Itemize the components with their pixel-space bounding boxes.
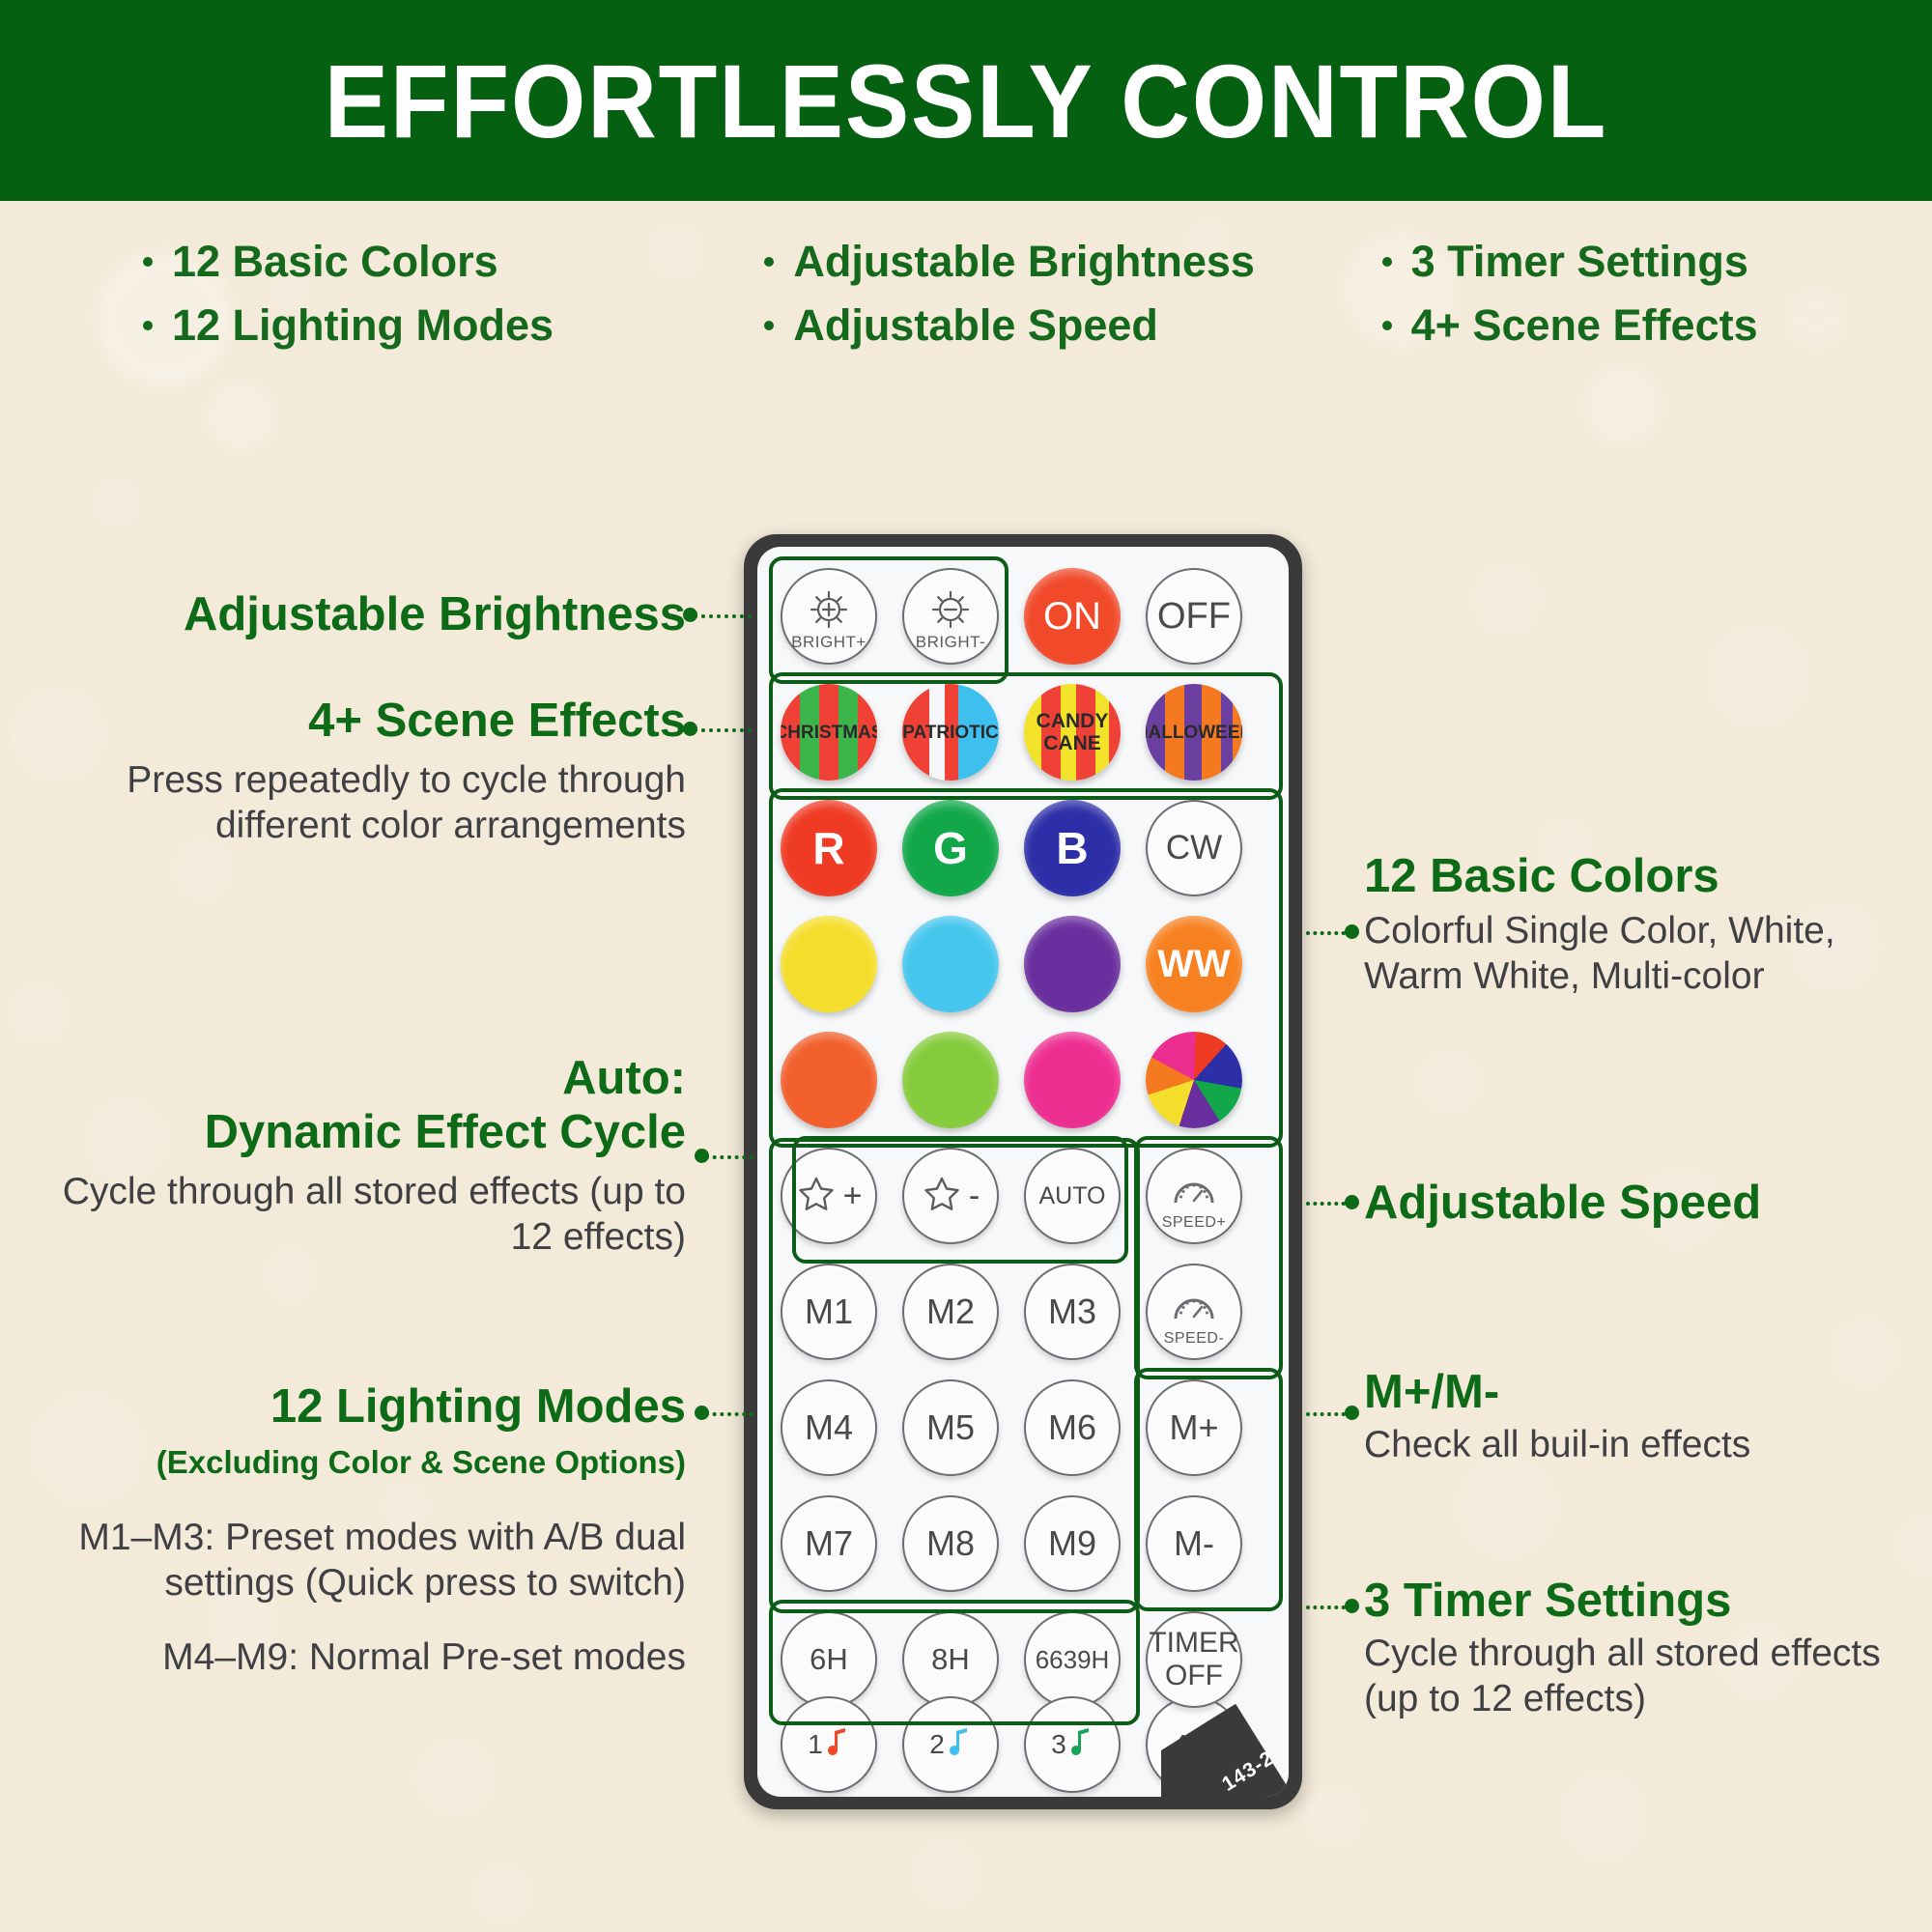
- callout-speed-title: Adjustable Speed: [1364, 1175, 1905, 1231]
- power-off-label: OFF: [1157, 596, 1231, 638]
- page-title: EFFORTLESSLY CONTROL: [325, 41, 1608, 161]
- scene-patriotic-label: PATRIOTIC: [902, 722, 999, 744]
- spacer: [877, 1264, 902, 1360]
- feature-bullets: 12 Basic Colors 12 Lighting Modes Adjust…: [0, 216, 1932, 371]
- row-colors-2: WW: [781, 916, 1242, 1012]
- spacer: [877, 1611, 902, 1708]
- feature-label: 12 Lighting Modes: [172, 294, 554, 357]
- timer-8h-button[interactable]: 8H: [902, 1611, 999, 1708]
- color-cyan-button[interactable]: [902, 916, 999, 1012]
- leader-line-auto: [705, 1155, 753, 1159]
- auto-label: AUTO: [1039, 1182, 1106, 1210]
- mode-m5-label: M5: [926, 1407, 975, 1448]
- spacer: [877, 800, 902, 896]
- bullet-dot-icon: [1382, 321, 1392, 330]
- mode-m3-label: M3: [1048, 1292, 1096, 1332]
- candy-line-1: CANDY: [1037, 710, 1109, 732]
- mode-m9-label: M9: [1048, 1523, 1096, 1564]
- music-2-label: 2: [929, 1729, 945, 1760]
- spacer: [999, 1495, 1024, 1592]
- leader-dot-modes: [695, 1406, 709, 1420]
- spacer: [999, 800, 1024, 896]
- callout-timers-title: 3 Timer Settings: [1364, 1573, 1924, 1629]
- feature-item: 4+ Scene Effects: [1382, 294, 1932, 357]
- callout-scene-effects: 4+ Scene Effects Press repeatedly to cyc…: [58, 694, 686, 848]
- star-plus-icon: +: [796, 1174, 863, 1218]
- mode-m7-label: M7: [805, 1523, 853, 1564]
- callout-scene-body: Press repeatedly to cycle through differ…: [58, 757, 686, 848]
- color-purple-button[interactable]: [1024, 916, 1121, 1012]
- scene-candy-cane-label: CANDY CANE: [1037, 710, 1109, 754]
- mode-m2-button[interactable]: M2: [902, 1264, 999, 1360]
- color-orange-button[interactable]: [781, 1032, 877, 1128]
- music-note-icon: [1068, 1725, 1094, 1765]
- timer-6h-label: 6H: [810, 1642, 848, 1677]
- header-banner: EFFORTLESSLY CONTROL: [0, 0, 1932, 201]
- music-note-group-3: 3: [1051, 1725, 1094, 1765]
- mode-plus-label: M+: [1169, 1407, 1218, 1448]
- callout-msteps: M+/M- Check all buil-in effects: [1364, 1364, 1905, 1467]
- callout-basic-colors: 12 Basic Colors Colorful Single Color, W…: [1364, 848, 1905, 999]
- spacer: [877, 916, 902, 1012]
- color-green-label: G: [933, 822, 968, 874]
- feature-column-1: 12 Basic Colors 12 Lighting Modes: [0, 216, 693, 371]
- timer-off-line2: OFF: [1165, 1660, 1223, 1692]
- feature-column-3: 3 Timer Settings 4+ Scene Effects: [1315, 216, 1932, 371]
- callout-modes-body-1: M1–M3: Preset modes with A/B dual settin…: [48, 1515, 686, 1605]
- star-minus-button[interactable]: -: [902, 1148, 999, 1244]
- callout-timers: 3 Timer Settings Cycle through all store…: [1364, 1573, 1924, 1721]
- callout-auto-body: Cycle through all stored effects (up to …: [58, 1169, 686, 1260]
- spacer: [999, 1696, 1024, 1793]
- mode-m3-button[interactable]: M3: [1024, 1264, 1121, 1360]
- speed-down-label: SPEED-: [1148, 1330, 1240, 1348]
- speed-up-label: SPEED+: [1148, 1214, 1240, 1232]
- leader-line-modes: [705, 1412, 753, 1416]
- feature-column-2: Adjustable Brightness Adjustable Speed: [693, 216, 1314, 371]
- mode-plus-button[interactable]: M+: [1146, 1379, 1242, 1476]
- bright-down-button[interactable]: BRIGHT-: [902, 568, 999, 665]
- color-yellow-button[interactable]: [781, 916, 877, 1012]
- model-corner-tag: 143-2: [1161, 1704, 1289, 1797]
- callout-speed: Adjustable Speed: [1364, 1175, 1905, 1231]
- candy-line-2: CANE: [1043, 732, 1101, 754]
- sun-plus-icon: [804, 586, 854, 637]
- scene-halloween-label: HALLOWEEN: [1146, 722, 1242, 744]
- callout-msteps-title: M+/M-: [1364, 1364, 1905, 1420]
- spacer: [999, 1611, 1024, 1708]
- feature-item: 12 Basic Colors: [143, 230, 693, 294]
- callout-auto-title-2: Dynamic Effect Cycle: [58, 1105, 686, 1159]
- row-colors-3: [781, 1032, 1242, 1128]
- music-1-label: 1: [808, 1729, 823, 1760]
- feature-label: Adjustable Speed: [793, 294, 1158, 357]
- multicolor-wheel-icon: [1146, 1032, 1242, 1128]
- callout-auto: Auto: Dynamic Effect Cycle Cycle through…: [58, 1051, 686, 1260]
- scene-patriotic-button[interactable]: PATRIOTIC: [902, 684, 999, 781]
- music-note-group-1: 1: [808, 1725, 850, 1765]
- mode-m4-label: M4: [805, 1407, 853, 1448]
- leader-line-scene: [694, 728, 752, 732]
- bullet-dot-icon: [764, 321, 774, 330]
- leader-dot-msteps: [1345, 1406, 1359, 1420]
- star-minus-icon: -: [922, 1174, 980, 1218]
- color-multi-button[interactable]: [1146, 1032, 1242, 1128]
- callout-modes-body-2: M4–M9: Normal Pre-set modes: [48, 1634, 686, 1680]
- timer-off-button[interactable]: TIMER OFF: [1146, 1611, 1242, 1708]
- bullet-dot-icon: [1382, 257, 1392, 267]
- leader-dot-brightness: [683, 608, 697, 622]
- remote-control[interactable]: BRIGHT+ BRIGHT-: [744, 534, 1302, 1809]
- feature-label: 4+ Scene Effects: [1411, 294, 1758, 357]
- color-warm-white-button[interactable]: WW: [1146, 916, 1242, 1012]
- speed-down-button[interactable]: SPEED-: [1146, 1264, 1242, 1360]
- mode-minus-label: M-: [1174, 1523, 1214, 1564]
- leader-dot-timers: [1345, 1599, 1359, 1613]
- callout-timers-body: Cycle through all stored effects (up to …: [1364, 1631, 1924, 1721]
- mode-m4-button[interactable]: M4: [781, 1379, 877, 1476]
- callout-auto-title-1: Auto:: [58, 1051, 686, 1105]
- bright-down-label: BRIGHT-: [904, 633, 997, 652]
- spacer: [999, 684, 1024, 781]
- speed-up-button[interactable]: SPEED+: [1146, 1148, 1242, 1244]
- row-timers: 6H 8H 6639H: [781, 1611, 1121, 1708]
- leader-line-brightness: [694, 614, 752, 618]
- power-on-label: ON: [1043, 595, 1101, 639]
- timer-6639h-button[interactable]: 6639H: [1024, 1611, 1121, 1708]
- scene-halloween-button[interactable]: HALLOWEEN: [1146, 684, 1242, 781]
- color-cool-white-label: CW: [1166, 829, 1222, 867]
- music-note-icon: [947, 1725, 972, 1765]
- timer-6h-button[interactable]: 6H: [781, 1611, 877, 1708]
- bullet-dot-icon: [143, 257, 153, 267]
- bright-up-button[interactable]: BRIGHT+: [781, 568, 877, 665]
- mode-m6-button[interactable]: M6: [1024, 1379, 1121, 1476]
- callout-modes-subtitle: (Excluding Color & Scene Options): [48, 1435, 686, 1490]
- callout-brightness: Adjustable Brightness: [58, 587, 686, 641]
- feature-label: Adjustable Brightness: [793, 230, 1255, 294]
- bright-up-label: BRIGHT+: [782, 633, 875, 652]
- row-modes-3: M7 M8 M9: [781, 1495, 1121, 1592]
- spacer: [1121, 916, 1146, 1012]
- feature-item: 12 Lighting Modes: [143, 294, 693, 357]
- callout-colors-body: Colorful Single Color, White, Warm White…: [1364, 908, 1905, 999]
- spacer: [1121, 800, 1146, 896]
- spacer: [877, 1379, 902, 1476]
- sun-minus-icon: [925, 586, 976, 637]
- feature-label: 3 Timer Settings: [1411, 230, 1748, 294]
- leader-dot-colors: [1345, 924, 1359, 939]
- power-off-button[interactable]: OFF: [1146, 568, 1242, 665]
- bullet-dot-icon: [764, 257, 774, 267]
- spacer: [877, 1148, 902, 1244]
- row-colors-1: R G B CW: [781, 800, 1242, 896]
- mode-m2-label: M2: [926, 1292, 975, 1332]
- music-note-group-2: 2: [929, 1725, 972, 1765]
- color-magenta-button[interactable]: [1024, 1032, 1121, 1128]
- callout-brightness-title: Adjustable Brightness: [58, 587, 686, 641]
- color-red-label: R: [812, 822, 844, 874]
- row-modes-2: M4 M5 M6: [781, 1379, 1121, 1476]
- scene-christmas-label: CHRISTMAS: [781, 722, 877, 744]
- callout-modes-title: 12 Lighting Modes: [48, 1379, 686, 1434]
- mode-m8-label: M8: [926, 1523, 975, 1564]
- spacer: [1121, 1032, 1146, 1128]
- color-green-button[interactable]: G: [902, 800, 999, 896]
- gauge-icon: [1169, 1287, 1219, 1327]
- mode-m8-button[interactable]: M8: [902, 1495, 999, 1592]
- feature-label: 12 Basic Colors: [172, 230, 498, 294]
- scene-christmas-button[interactable]: CHRISTMAS: [781, 684, 877, 781]
- spacer: [999, 1379, 1024, 1476]
- music-3-label: 3: [1051, 1729, 1066, 1760]
- timer-6639h-label: 6639H: [1036, 1645, 1110, 1675]
- star-plus-button[interactable]: +: [781, 1148, 877, 1244]
- mode-m1-button[interactable]: M1: [781, 1264, 877, 1360]
- row-star-auto: + - AUTO: [781, 1148, 1121, 1244]
- spacer: [877, 568, 902, 665]
- spacer: [999, 1032, 1024, 1128]
- music-note-icon: [825, 1725, 850, 1765]
- callout-scene-title: 4+ Scene Effects: [58, 694, 686, 748]
- spacer: [877, 1032, 902, 1128]
- mode-minus-button[interactable]: M-: [1146, 1495, 1242, 1592]
- leader-dot-auto: [695, 1149, 709, 1163]
- color-cool-white-button[interactable]: CW: [1146, 800, 1242, 896]
- timer-off-line1: TIMER: [1149, 1627, 1238, 1660]
- spacer: [999, 916, 1024, 1012]
- music-1-button[interactable]: 1: [781, 1696, 877, 1793]
- color-blue-label: B: [1056, 822, 1088, 874]
- feature-item: 3 Timer Settings: [1382, 230, 1932, 294]
- spacer: [999, 1148, 1024, 1244]
- spacer: [1121, 568, 1146, 665]
- bullet-dot-icon: [143, 321, 153, 330]
- power-on-button[interactable]: ON: [1024, 568, 1121, 665]
- mode-m9-button[interactable]: M9: [1024, 1495, 1121, 1592]
- music-2-button[interactable]: 2: [902, 1696, 999, 1793]
- spacer: [877, 684, 902, 781]
- feature-item: Adjustable Speed: [764, 294, 1314, 357]
- color-warm-white-label: WW: [1157, 943, 1231, 986]
- mode-m5-button[interactable]: M5: [902, 1379, 999, 1476]
- spacer: [999, 1264, 1024, 1360]
- color-red-button[interactable]: R: [781, 800, 877, 896]
- music-3-button[interactable]: 3: [1024, 1696, 1121, 1793]
- row-modes-1: M1 M2 M3: [781, 1264, 1121, 1360]
- gauge-icon: [1169, 1171, 1219, 1211]
- scene-candy-cane-button[interactable]: CANDY CANE: [1024, 684, 1121, 781]
- auto-button[interactable]: AUTO: [1024, 1148, 1121, 1244]
- callout-msteps-body: Check all buil-in effects: [1364, 1422, 1905, 1467]
- spacer: [1121, 684, 1146, 781]
- color-lime-button[interactable]: [902, 1032, 999, 1128]
- color-blue-button[interactable]: B: [1024, 800, 1121, 896]
- row-brightness-power: BRIGHT+ BRIGHT-: [781, 568, 1242, 665]
- mode-m1-label: M1: [805, 1292, 853, 1332]
- callout-colors-title: 12 Basic Colors: [1364, 848, 1905, 904]
- leader-dot-scene: [683, 722, 697, 736]
- mode-m6-label: M6: [1048, 1407, 1096, 1448]
- spacer: [877, 1495, 902, 1592]
- spacer: [1121, 1696, 1146, 1793]
- spacer: [877, 1696, 902, 1793]
- mode-m7-button[interactable]: M7: [781, 1495, 877, 1592]
- callout-modes: 12 Lighting Modes (Excluding Color & Sce…: [48, 1379, 686, 1680]
- row-scene-effects: CHRISTMAS PATRIOTIC CANDY CANE HALLOWEEN: [781, 684, 1242, 781]
- remote-faceplate: BRIGHT+ BRIGHT-: [757, 547, 1289, 1797]
- leader-dot-speed: [1345, 1195, 1359, 1209]
- spacer: [999, 568, 1024, 665]
- feature-item: Adjustable Brightness: [764, 230, 1314, 294]
- timer-8h-label: 8H: [931, 1642, 970, 1677]
